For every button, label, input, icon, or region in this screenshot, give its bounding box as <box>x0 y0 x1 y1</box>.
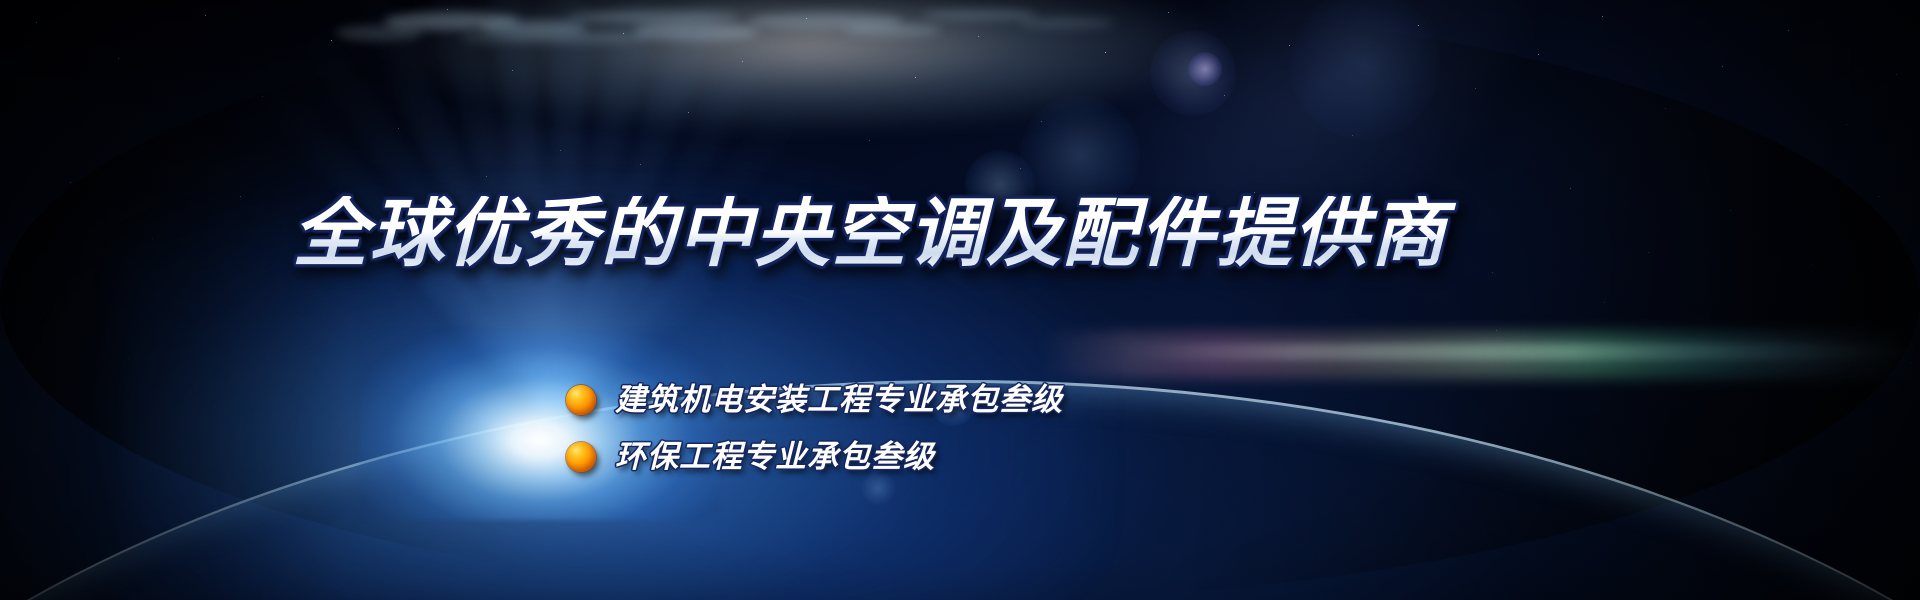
hero-banner: 全球优秀的中央空调及配件提供商 建筑机电安装工程专业承包叁级 环保工程专业承包叁… <box>0 0 1920 600</box>
orange-dot-icon <box>566 385 596 415</box>
certification-list: 建筑机电安装工程专业承包叁级 环保工程专业承包叁级 <box>566 384 1063 472</box>
list-item-label: 建筑机电安装工程专业承包叁级 <box>615 384 1063 415</box>
list-item: 环保工程专业承包叁级 <box>566 441 1063 472</box>
banner-content: 全球优秀的中央空调及配件提供商 建筑机电安装工程专业承包叁级 环保工程专业承包叁… <box>0 0 1920 600</box>
orange-dot-icon <box>566 442 596 472</box>
page-title: 全球优秀的中央空调及配件提供商 <box>0 196 1740 271</box>
list-item-label: 环保工程专业承包叁级 <box>615 441 935 472</box>
list-item: 建筑机电安装工程专业承包叁级 <box>566 384 1063 415</box>
